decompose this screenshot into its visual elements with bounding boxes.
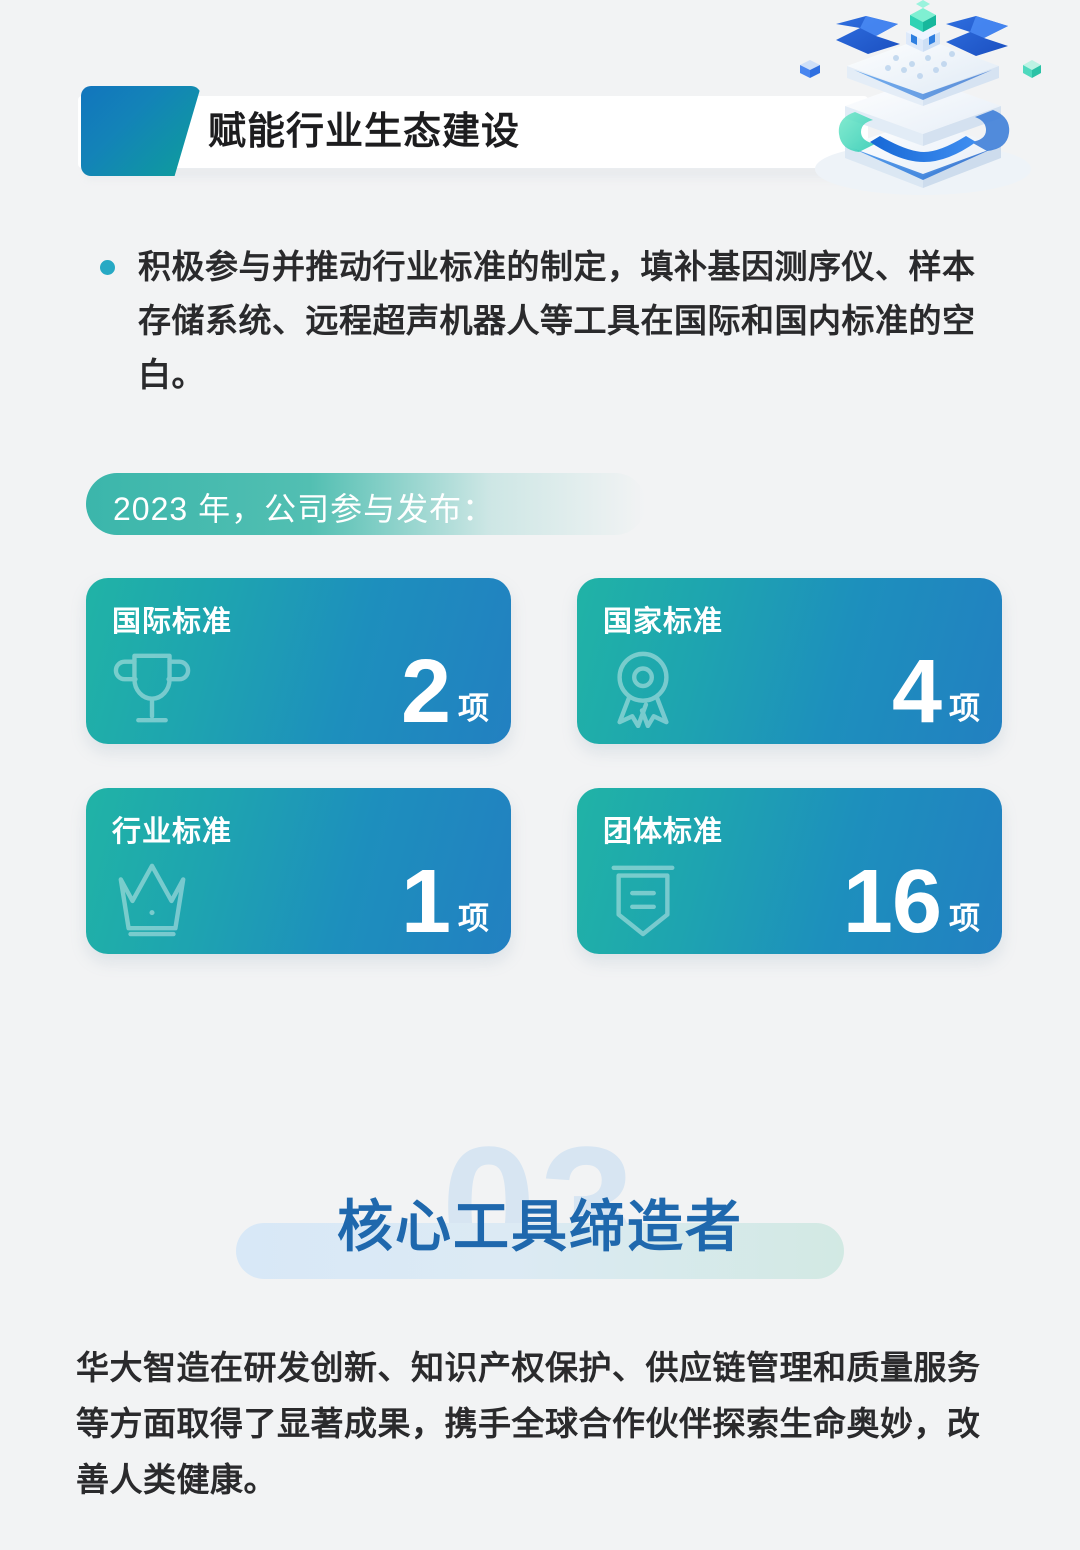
year-banner-text: 2023 年，公司参与发布： — [113, 484, 495, 530]
shield-badge-icon — [604, 858, 682, 938]
stat-card-label: 国际标准 — [112, 598, 232, 640]
medal-icon — [604, 648, 682, 728]
stat-card-label: 行业标准 — [112, 808, 232, 850]
stat-card-unit: 项 — [949, 693, 980, 724]
intro-bullet-block: 积极参与并推动行业标准的制定，填补基因测序仪、样本存储系统、远程超声机器人等工具… — [100, 240, 1000, 402]
crown-icon — [113, 858, 191, 938]
stat-card-value-wrap: 2 项 — [401, 644, 489, 740]
stat-card-value-wrap: 1 项 — [401, 854, 489, 950]
stat-card-value: 1 — [401, 854, 450, 950]
stat-card-value: 16 — [843, 854, 941, 950]
stat-card[interactable]: 团体标准 16 项 — [577, 788, 1002, 954]
section-body-text: 华大智造在研发创新、知识产权保护、供应链管理和质量服务等方面取得了显著成果，携手… — [76, 1340, 1006, 1508]
section-title: 核心工具缔造者 — [0, 1192, 1080, 1262]
stat-card-value: 2 — [401, 644, 450, 740]
trophy-icon — [113, 648, 191, 728]
page-header: 赋能行业生态建设 — [0, 0, 1080, 210]
stat-card-unit: 项 — [458, 903, 489, 934]
stat-card-value-wrap: 4 项 — [892, 644, 980, 740]
stat-card-value-wrap: 16 项 — [843, 854, 980, 950]
bullet-dot-icon — [100, 260, 115, 275]
intro-bullet-text: 积极参与并推动行业标准的制定，填补基因测序仪、样本存储系统、远程超声机器人等工具… — [138, 240, 1000, 402]
stat-card-unit: 项 — [949, 903, 980, 934]
header-band-shadow — [86, 168, 846, 182]
stat-card-unit: 项 — [458, 693, 489, 724]
page-root: 赋能行业生态建设 — [0, 0, 1080, 1550]
standards-stat-cards: 国际标准 2 项 国家标准 — [86, 578, 1002, 954]
year-banner: 2023 年，公司参与发布： — [86, 473, 646, 535]
stat-card-label: 团体标准 — [603, 808, 723, 850]
stat-card[interactable]: 行业标准 1 项 — [86, 788, 511, 954]
stat-card[interactable]: 国际标准 2 项 — [86, 578, 511, 744]
stat-card-label: 国家标准 — [603, 598, 723, 640]
stat-card-value: 4 — [892, 644, 941, 740]
isometric-layers-illustration-icon — [780, 0, 1060, 204]
page-title: 赋能行业生态建设 — [208, 107, 520, 157]
stat-card[interactable]: 国家标准 4 项 — [577, 578, 1002, 744]
